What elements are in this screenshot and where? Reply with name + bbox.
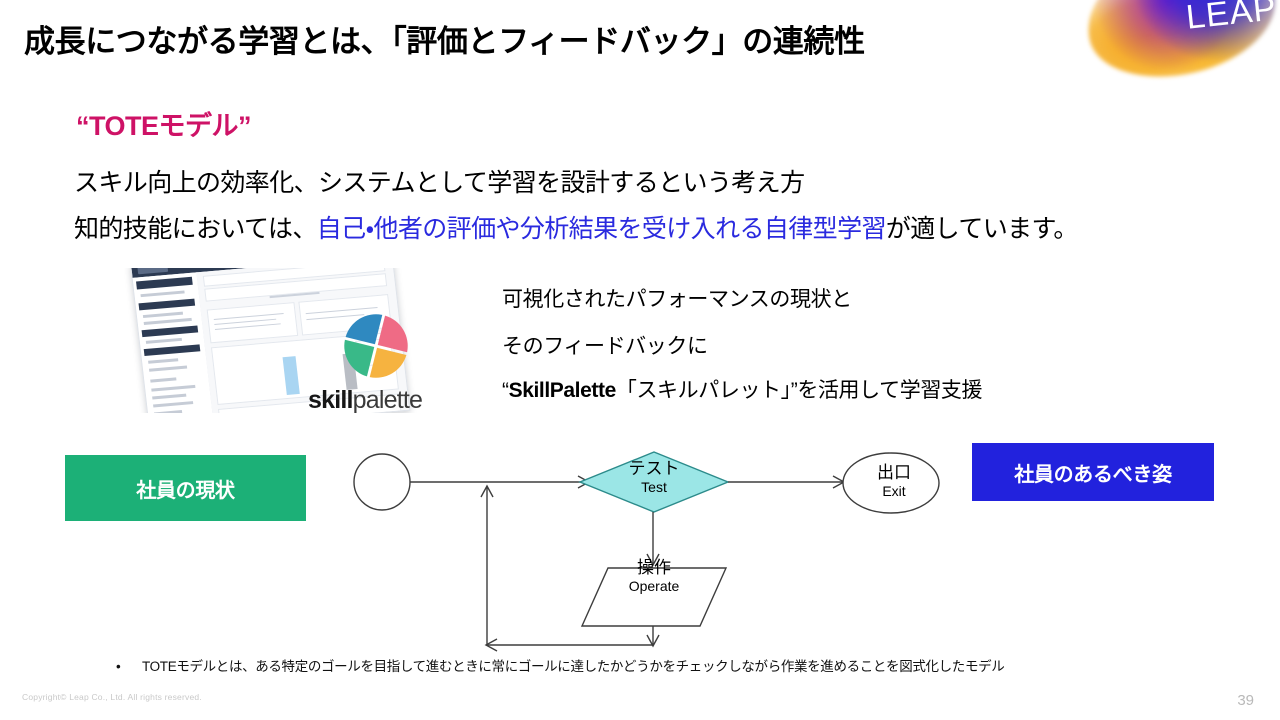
- tote-model-heading: “TOTEモデル”: [76, 104, 251, 143]
- flow-label-operate-jp: 操作: [608, 558, 700, 578]
- flow-label-operate-en: Operate: [608, 578, 700, 595]
- lead-line-2-prefix: 知的技能においては、: [74, 215, 317, 243]
- right-text-line-3-rest: 「スキルパレット」”を活用して学習支援: [616, 379, 982, 402]
- skillpalette-wordmark: skillpalette: [308, 386, 422, 413]
- wordmark-palette: palette: [353, 386, 422, 413]
- leap-logo-text: LEAP: [1184, 0, 1279, 38]
- footnote-text: TOTEモデルとは、ある特定のゴールを目指して進むときに常にゴールに達したかどう…: [142, 659, 1004, 674]
- page-number: 39: [1237, 692, 1254, 709]
- flow-label-test-jp: テスト: [608, 459, 700, 479]
- lead-line-2-highlight: 自己・他者の評価や分析結果を受け入れる自律型学習: [317, 215, 886, 243]
- footnote: •TOTEモデルとは、ある特定のゴールを目指して進むときに常にゴールに達したかど…: [116, 655, 1004, 675]
- lead-line-2-suffix: が適しています。: [886, 215, 1078, 243]
- flow-label-exit: 出口 Exit: [848, 463, 940, 500]
- lead-line-1: スキル向上の効率化、システムとして学習を設計するという考え方: [74, 163, 805, 199]
- open-quote: “: [502, 379, 509, 402]
- right-text-line-2: そのフィードバックに: [502, 330, 708, 360]
- flow-label-test: テスト Test: [608, 459, 700, 496]
- skillpalette-petal-icon: [340, 310, 412, 382]
- flow-label-test-en: Test: [608, 479, 700, 496]
- page-title: 成長につながる学習とは、「評価とフィードバック」の連続性: [24, 16, 865, 61]
- right-text-line-3: “SkillPalette「スキルパレット」”を活用して学習支援: [502, 374, 982, 404]
- slide-canvas: 成長につながる学習とは、「評価とフィードバック」の連続性 LEAP “TOTEモ…: [0, 0, 1280, 720]
- flow-label-operate: 操作 Operate: [608, 558, 700, 595]
- footnote-bullet: •: [116, 659, 142, 674]
- copyright-notice: Copyright© Leap Co., Ltd. All rights res…: [22, 692, 202, 702]
- lead-line-2: 知的技能においては、自己・他者の評価や分析結果を受け入れる自律型学習が適していま…: [74, 209, 1078, 245]
- flow-label-exit-jp: 出口: [848, 463, 940, 483]
- flow-node-start: [354, 454, 410, 510]
- leap-logo: LEAP: [1080, 0, 1280, 82]
- skillpalette-name: SkillPalette: [509, 379, 616, 402]
- wordmark-skill: skill: [308, 386, 353, 413]
- right-text-line-1: 可視化されたパフォーマンスの現状と: [502, 283, 852, 313]
- skillpalette-product-image: skillpalette: [124, 268, 440, 413]
- flow-label-exit-en: Exit: [848, 483, 940, 500]
